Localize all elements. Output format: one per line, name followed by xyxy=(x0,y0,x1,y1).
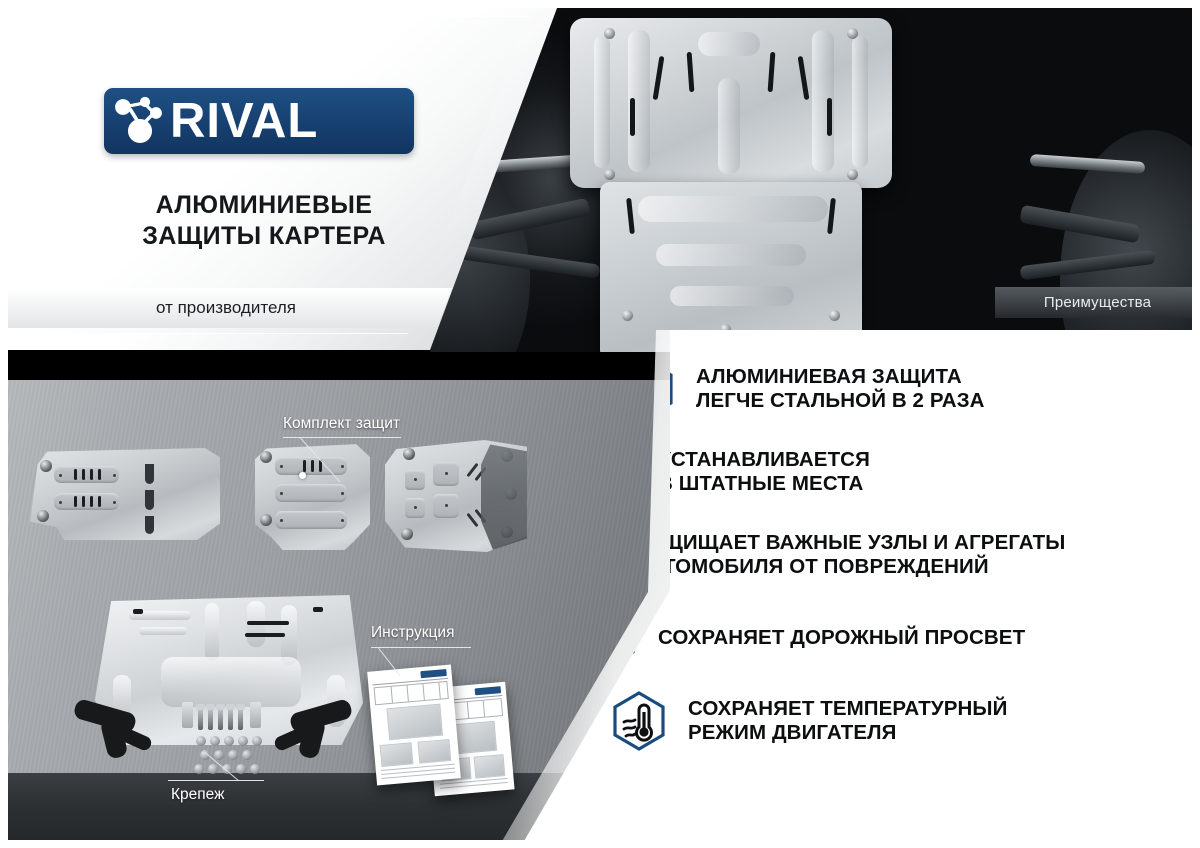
skid-plate-2 xyxy=(255,442,370,550)
poster-root: Преимущества RIVAL АЛЮМИНИЕВЫЕ xyxy=(0,0,1200,848)
callout-label-fasteners: Крепеж xyxy=(171,786,224,804)
skid-plate-1 xyxy=(30,448,220,540)
callout-label-kit: Комплект защит xyxy=(283,415,400,433)
molecule-icon xyxy=(110,91,172,151)
instruction-sheet-front xyxy=(367,665,461,786)
feature-item-weight: АЛЮМИНИЕВАЯ ЗАЩИТА ЛЕГЧЕ СТАЛЬНОЙ В 2 РА… xyxy=(616,358,1176,420)
advantages-tab-label: Преимущества xyxy=(1044,294,1151,311)
page-title-line1: АЛЮМИНИЕВЫЕ xyxy=(104,190,424,221)
feature-line1: СОХРАНЯЕТ ДОРОЖНЫЙ ПРОСВЕТ xyxy=(658,626,1025,649)
feature-text-temperature: СОХРАНЯЕТ ТЕМПЕРАТУРНЫЙ РЕЖИМ ДВИГАТЕЛЯ xyxy=(688,697,1007,745)
brand-panel-inner xyxy=(16,16,528,334)
advantages-tab: Преимущества xyxy=(995,287,1200,318)
subtitle-text: от производителя xyxy=(156,298,296,318)
feature-item-temperature: СОХРАНЯЕТ ТЕМПЕРАТУРНЫЙ РЕЖИМ ДВИГАТЕЛЯ xyxy=(608,690,1176,752)
feature-line2: В ШТАТНЫЕ МЕСТА xyxy=(658,472,870,496)
callout-dot-kit xyxy=(299,472,306,479)
feature-text-install: УСТАНАВЛИВАЕТСЯ В ШТАТНЫЕ МЕСТА xyxy=(658,448,870,496)
callout-underline-instruction xyxy=(371,647,471,648)
feature-text-clearance: СОХРАНЯЕТ ДОРОЖНЫЙ ПРОСВЕТ xyxy=(658,626,1025,650)
subtitle-band: от производителя xyxy=(0,288,452,328)
skid-plate-3 xyxy=(385,440,527,552)
feature-text-weight: АЛЮМИНИЕВАЯ ЗАЩИТА ЛЕГЧЕ СТАЛЬНОЙ В 2 РА… xyxy=(696,365,985,413)
callout-label-instruction: Инструкция xyxy=(371,624,454,642)
feature-text-protection: ЗАЩИЩАЕТ ВАЖНЫЕ УЗЛЫ И АГРЕГАТЫ АВТОМОБИ… xyxy=(634,531,1065,579)
feature-line1: УСТАНАВЛИВАЕТСЯ xyxy=(658,448,870,471)
features-list: АЛЮМИНИЕВАЯ ЗАЩИТА ЛЕГЧЕ СТАЛЬНОЙ В 2 РА… xyxy=(616,358,1176,773)
thermometer-icon xyxy=(608,690,670,752)
callout-underline-fasteners xyxy=(168,780,264,781)
mounting-bracket-left xyxy=(74,702,166,758)
page-title: АЛЮМИНИЕВЫЕ ЗАЩИТЫ КАРТЕРА xyxy=(104,190,424,251)
rival-logo-text: RIVAL xyxy=(170,97,318,146)
installed-skid-plate-upper xyxy=(570,18,892,188)
feature-line1: СОХРАНЯЕТ ТЕМПЕРАТУРНЫЙ xyxy=(688,697,1007,720)
underbody-photo: Преимущества xyxy=(430,0,1200,352)
rival-logo: RIVAL xyxy=(104,88,414,154)
installed-skid-plate-lower xyxy=(600,182,862,352)
feature-line1: ЗАЩИЩАЕТ ВАЖНЫЕ УЗЛЫ И АГРЕГАТЫ xyxy=(634,531,1065,554)
feature-line2: АВТОМОБИЛЯ ОТ ПОВРЕЖДЕНИЙ xyxy=(634,555,1065,579)
feature-line1: АЛЮМИНИЕВАЯ ЗАЩИТА xyxy=(696,365,962,388)
feature-line2: ЛЕГЧЕ СТАЛЬНОЙ В 2 РАЗА xyxy=(696,389,985,413)
mounting-bracket-right xyxy=(272,702,364,758)
feature-line2: РЕЖИМ ДВИГАТЕЛЯ xyxy=(688,721,1007,745)
feature-item-clearance: СОХРАНЯЕТ ДОРОЖНЫЙ ПРОСВЕТ xyxy=(578,607,1176,669)
page-title-line2: ЗАЩИТЫ КАРТЕРА xyxy=(104,221,424,252)
